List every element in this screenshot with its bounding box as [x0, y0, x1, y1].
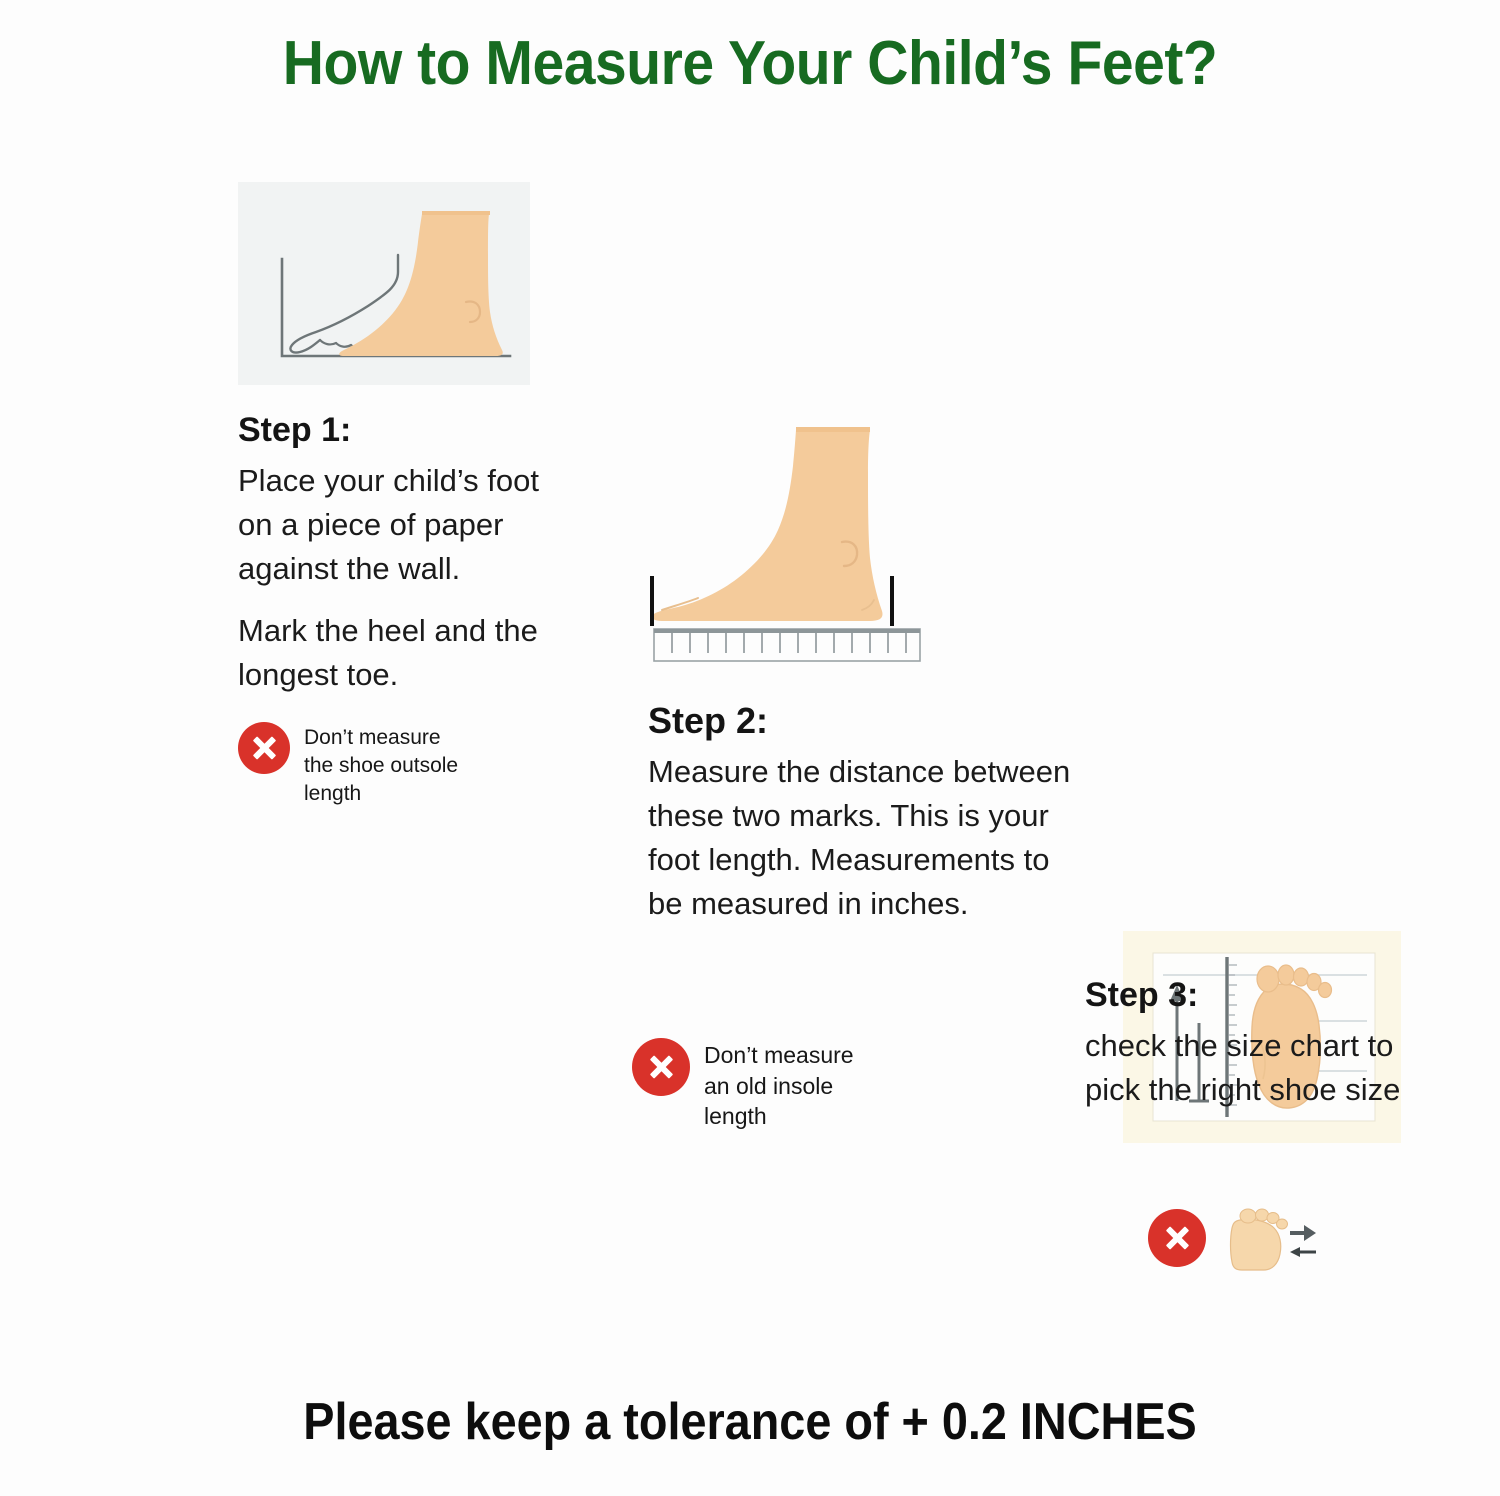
step1-body-para-2: Mark the heel and the longest toe.	[238, 609, 548, 697]
step1-warning-line-1: Don’t measure	[304, 724, 458, 752]
step2-body-para-1: Measure the distance between these two m…	[648, 750, 1078, 926]
step3-text-block: Step 3: check the size chart to pick the…	[1085, 978, 1405, 1112]
step3-warning	[1148, 1202, 1368, 1274]
step2-warning-line-3: length	[704, 1101, 854, 1132]
step1-body: Place your child’s foot on a piece of pa…	[238, 459, 548, 697]
step2-heading: Step 2:	[648, 702, 1078, 740]
tolerance-note: Please keep a tolerance of + 0.2 INCHES	[75, 1392, 1425, 1452]
side-foot-against-wall-diagram	[238, 182, 530, 385]
step2-warning-line-1: Don’t measure	[704, 1040, 854, 1071]
side-foot-with-ruler-diagram	[640, 418, 940, 670]
toe-mark	[650, 576, 654, 626]
heel-mark	[890, 576, 894, 626]
step2-warning: Don’t measure an old insole length	[632, 1038, 932, 1132]
red-x-circle-icon	[238, 722, 290, 774]
foot-sole-with-arrows-icon	[1220, 1202, 1320, 1274]
red-x-circle-icon	[632, 1038, 690, 1096]
step2-warning-text: Don’t measure an old insole length	[704, 1038, 854, 1132]
red-x-circle-icon	[1148, 1209, 1206, 1267]
step1-text-block: Step 1: Place your child’s foot on a pie…	[238, 413, 548, 697]
infographic-page: How to Measure Your Child’s Feet? Step 1…	[0, 0, 1500, 1496]
page-title: How to Measure Your Child’s Feet?	[60, 28, 1440, 99]
step3-body: check the size chart to pick the right s…	[1085, 1024, 1405, 1112]
step2-body: Measure the distance between these two m…	[648, 750, 1078, 926]
step2-text-block: Step 2: Measure the distance between the…	[648, 702, 1078, 926]
step1-warning-line-3: length	[304, 780, 458, 808]
step1-illustration	[238, 182, 530, 385]
step1-body-para-1: Place your child’s foot on a piece of pa…	[238, 459, 548, 591]
step2-warning-line-2: an old insole	[704, 1071, 854, 1102]
step1-warning: Don’t measure the shoe outsole length	[238, 722, 528, 808]
step3-heading: Step 3:	[1085, 978, 1405, 1014]
step1-heading: Step 1:	[238, 413, 548, 449]
step1-warning-line-2: the shoe outsole	[304, 752, 458, 780]
step3-body-para-1: check the size chart to pick the right s…	[1085, 1024, 1405, 1112]
step1-warning-text: Don’t measure the shoe outsole length	[304, 722, 458, 808]
step2-illustration	[640, 418, 940, 670]
